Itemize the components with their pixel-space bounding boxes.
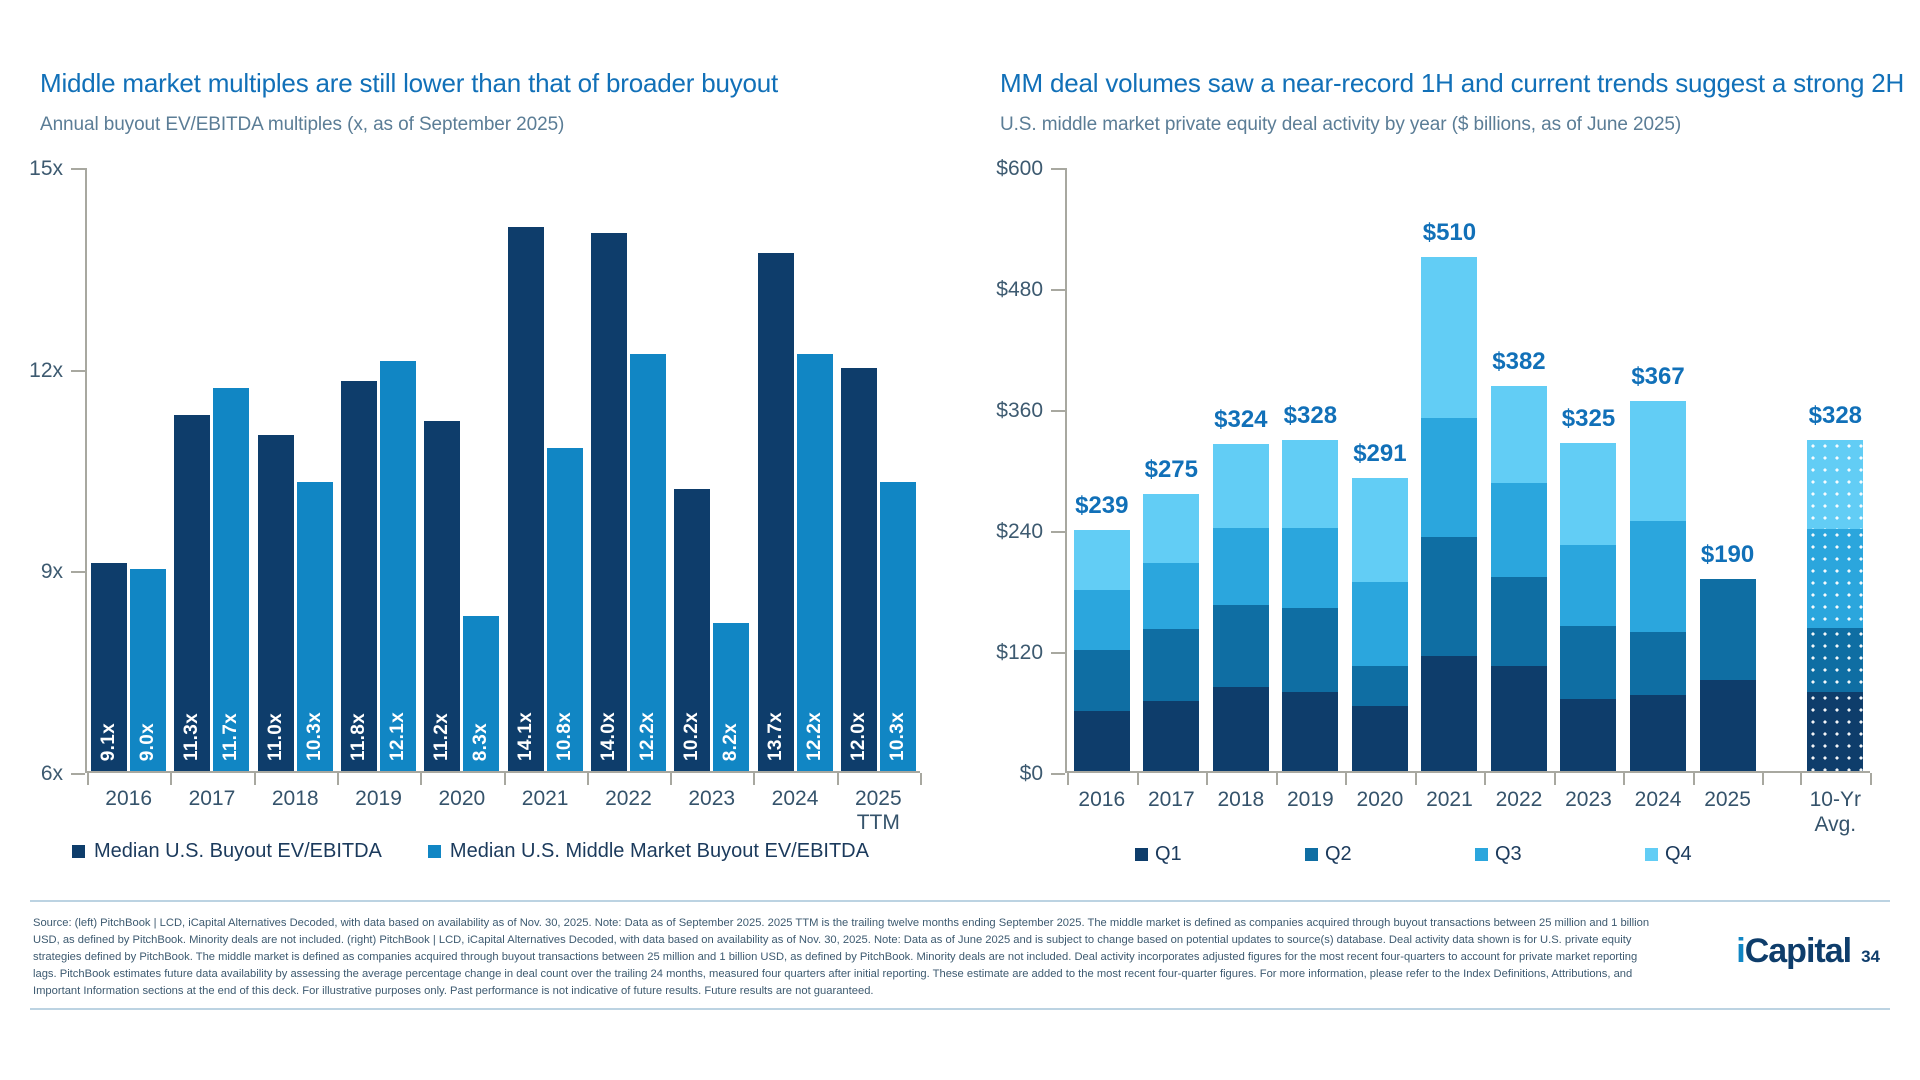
y-tick-mark: $240 bbox=[1051, 531, 1065, 533]
bar-value-label: 8.2x bbox=[720, 723, 742, 761]
bar-group[interactable]: 10.2x8.2x bbox=[670, 168, 753, 771]
x-tick-mark bbox=[587, 773, 589, 785]
right-chart-title: MM deal volumes saw a near-record 1H and… bbox=[1000, 68, 1904, 99]
bar-segment[interactable] bbox=[1491, 386, 1547, 483]
stacked-bar[interactable]: $328 bbox=[1282, 440, 1338, 771]
x-tick-mark bbox=[337, 773, 339, 785]
x-tick-label: 2024 bbox=[753, 775, 836, 835]
footer-divider-bottom bbox=[30, 1008, 1890, 1010]
x-tick-mark bbox=[1345, 773, 1347, 785]
bar-group[interactable]: $239 bbox=[1067, 168, 1137, 771]
right-title-block: MM deal volumes saw a near-record 1H and… bbox=[1000, 68, 1904, 136]
bar-segment[interactable] bbox=[1213, 605, 1269, 688]
bar-segment[interactable] bbox=[1074, 590, 1130, 651]
legend-item[interactable]: Q1 bbox=[1135, 843, 1305, 866]
bar-segment[interactable] bbox=[1213, 528, 1269, 605]
x-tick-label: 2016 bbox=[87, 775, 170, 835]
bar-group[interactable]: 12.0x10.3x bbox=[837, 168, 920, 771]
x-tick-mark bbox=[1067, 773, 1069, 785]
brand-block: iCapital 34 bbox=[1736, 932, 1880, 971]
bar-group[interactable]: $291 bbox=[1345, 168, 1415, 771]
bar-group[interactable]: 14.0x12.2x bbox=[587, 168, 670, 771]
bar-total-label: $325 bbox=[1562, 405, 1615, 433]
bar-value-label: 9.0x bbox=[137, 723, 159, 761]
bar[interactable]: 14.1x bbox=[508, 227, 544, 772]
bar-segment[interactable] bbox=[1630, 521, 1686, 632]
y-tick-label: $120 bbox=[996, 641, 1043, 665]
bar[interactable]: 13.7x bbox=[758, 253, 794, 771]
x-tick-label: 2023 bbox=[1554, 775, 1624, 837]
bar[interactable]: 12.0x bbox=[841, 368, 877, 771]
legend-label: Q2 bbox=[1325, 843, 1352, 866]
y-tick-mark: $120 bbox=[1051, 652, 1065, 654]
bar[interactable]: 11.8x bbox=[341, 381, 377, 771]
bar-segment[interactable] bbox=[1143, 629, 1199, 702]
bar-segment[interactable] bbox=[1074, 650, 1130, 711]
x-tick-mark bbox=[837, 773, 839, 785]
x-tick-label: 2021 bbox=[503, 775, 586, 835]
y-tick-mark: 6x bbox=[71, 773, 85, 775]
bar-value-label: 11.2x bbox=[431, 713, 453, 761]
x-tick-mark bbox=[1206, 773, 1208, 785]
legend-item[interactable]: Q3 bbox=[1475, 843, 1645, 866]
left-chart-legend: Median U.S. Buyout EV/EBITDAMedian U.S. … bbox=[72, 840, 869, 863]
bar-segment[interactable] bbox=[1352, 706, 1408, 771]
legend-swatch-icon bbox=[428, 845, 441, 858]
bar-value-label: 12.1x bbox=[387, 712, 409, 761]
y-tick-label: $360 bbox=[996, 399, 1043, 423]
bar-value-label: 10.3x bbox=[304, 712, 326, 761]
x-tick-mark bbox=[670, 773, 672, 785]
y-tick-label: $0 bbox=[1020, 762, 1043, 786]
left-chart-title: Middle market multiples are still lower … bbox=[40, 68, 778, 99]
bar-segment[interactable] bbox=[1282, 440, 1338, 528]
x-tick-label: 2017 bbox=[170, 775, 253, 835]
legend-swatch-icon bbox=[72, 845, 85, 858]
y-tick-label: 9x bbox=[41, 560, 63, 584]
x-tick-label: 2019 bbox=[1276, 775, 1346, 837]
legend-swatch-icon bbox=[1135, 848, 1148, 861]
bar-segment[interactable] bbox=[1282, 608, 1338, 693]
x-tick-label: 2018 bbox=[1206, 775, 1276, 837]
bar-group-spacer bbox=[1762, 168, 1800, 771]
bar-value-label: 9.1x bbox=[98, 723, 120, 761]
bar-group[interactable]: $382 bbox=[1484, 168, 1554, 771]
legend-swatch-icon bbox=[1475, 848, 1488, 861]
x-tick-label: 2025 bbox=[1693, 775, 1763, 837]
bar-group[interactable]: 14.1x10.8x bbox=[503, 168, 586, 771]
y-tick-mark: 9x bbox=[71, 571, 85, 573]
bar-value-label: 12.0x bbox=[848, 712, 870, 761]
bar-segment[interactable] bbox=[1807, 440, 1863, 529]
footer-divider-top bbox=[30, 900, 1890, 902]
left-bar-group: 9.1x9.0x11.3x11.7x11.0x10.3x11.8x12.1x11… bbox=[87, 168, 920, 771]
bar-group[interactable]: $325 bbox=[1554, 168, 1624, 771]
y-tick-label: $480 bbox=[996, 278, 1043, 302]
x-tick-label: 2024 bbox=[1623, 775, 1693, 837]
bar-segment[interactable] bbox=[1491, 483, 1547, 578]
y-tick-label: $600 bbox=[996, 157, 1043, 181]
x-tick-label: 2023 bbox=[670, 775, 753, 835]
bar[interactable]: 11.3x bbox=[174, 415, 210, 771]
bar-group[interactable]: $328 bbox=[1276, 168, 1346, 771]
bar-value-label: 11.8x bbox=[348, 713, 370, 761]
footnote-text: Source: (left) PitchBook | LCD, iCapital… bbox=[33, 915, 1663, 1000]
bar-value-label: 11.7x bbox=[220, 713, 242, 761]
x-tick-label: 2022 bbox=[1484, 775, 1554, 837]
bar-group[interactable]: $275 bbox=[1137, 168, 1207, 771]
x-tick-mark bbox=[1762, 773, 1764, 785]
bar-segment[interactable] bbox=[1491, 577, 1547, 666]
legend-item[interactable]: Q2 bbox=[1305, 843, 1475, 866]
x-tick-label: 2022 bbox=[587, 775, 670, 835]
bar-group[interactable]: 13.7x12.2x bbox=[753, 168, 836, 771]
bar-segment[interactable] bbox=[1807, 529, 1863, 628]
y-tick-label: 12x bbox=[29, 359, 63, 383]
stacked-bar[interactable]: $367 bbox=[1630, 401, 1686, 771]
x-tick-label: 2016 bbox=[1067, 775, 1137, 837]
bar[interactable]: 12.1x bbox=[380, 361, 416, 771]
bar-total-label: $324 bbox=[1214, 406, 1267, 434]
right-bar-group: $239$275$324$328$291$510$382$325$367$190… bbox=[1067, 168, 1870, 771]
y-tick-label: 6x bbox=[41, 762, 63, 786]
bar-segment[interactable] bbox=[1807, 628, 1863, 693]
bar-value-label: 11.3x bbox=[181, 713, 203, 761]
legend-item[interactable]: Median U.S. Buyout EV/EBITDA bbox=[72, 840, 382, 863]
stacked-bar[interactable]: $325 bbox=[1560, 443, 1616, 771]
bar[interactable]: 12.2x bbox=[630, 354, 666, 771]
bar-segment[interactable] bbox=[1352, 478, 1408, 583]
x-tick-mark bbox=[420, 773, 422, 785]
bar-total-label: $275 bbox=[1145, 456, 1198, 484]
bar-segment[interactable] bbox=[1074, 530, 1130, 589]
x-tick-label: 10-YrAvg. bbox=[1801, 775, 1871, 837]
bar[interactable]: 9.0x bbox=[130, 569, 166, 771]
legend-label: Q4 bbox=[1665, 843, 1692, 866]
bar[interactable]: 11.2x bbox=[424, 421, 460, 771]
bar-segment[interactable] bbox=[1143, 563, 1199, 629]
bar-segment[interactable] bbox=[1630, 695, 1686, 771]
x-tick-mark bbox=[1623, 773, 1625, 785]
icapital-logo: iCapital bbox=[1736, 932, 1851, 971]
logo-i: i bbox=[1736, 932, 1744, 970]
bar-total-label: $367 bbox=[1631, 363, 1684, 391]
x-tick-label: 2018 bbox=[254, 775, 337, 835]
bar-segment[interactable] bbox=[1282, 692, 1338, 771]
y-tick-mark: $600 bbox=[1051, 168, 1065, 170]
bar-value-label: 11.0x bbox=[265, 713, 287, 761]
left-x-axis-line bbox=[85, 771, 920, 773]
x-tick-mark bbox=[87, 773, 89, 785]
bar-group[interactable]: 11.3x11.7x bbox=[170, 168, 253, 771]
x-tick-mark bbox=[1693, 773, 1695, 785]
x-tick-spacer bbox=[1762, 775, 1800, 837]
x-tick-mark bbox=[920, 773, 922, 785]
bar-value-label: 13.7x bbox=[765, 712, 787, 761]
bar-segment[interactable] bbox=[1491, 666, 1547, 771]
bar[interactable]: 14.0x bbox=[591, 233, 627, 771]
x-tick-mark bbox=[1276, 773, 1278, 785]
stacked-bar[interactable]: $324 bbox=[1213, 444, 1269, 771]
x-tick-mark bbox=[504, 773, 506, 785]
bar-segment[interactable] bbox=[1807, 692, 1863, 771]
stacked-bar[interactable]: $382 bbox=[1491, 386, 1547, 771]
left-chart-subtitle: Annual buyout EV/EBITDA multiples (x, as… bbox=[40, 114, 778, 136]
stacked-bar[interactable]: $275 bbox=[1143, 494, 1199, 771]
left-chart-plot-area: 6x9x12x15x 9.1x9.0x11.3x11.7x11.0x10.3x1… bbox=[85, 168, 920, 773]
bar-segment[interactable] bbox=[1352, 666, 1408, 706]
bar[interactable]: 12.2x bbox=[797, 354, 833, 771]
bar[interactable]: 9.1x bbox=[91, 563, 127, 771]
legend-item[interactable]: Q4 bbox=[1645, 843, 1815, 866]
bar-total-label: $239 bbox=[1075, 492, 1128, 520]
right-x-tick-labels: 2016201720182019202020212022202320242025… bbox=[1067, 775, 1870, 837]
bar-group[interactable]: 11.8x12.1x bbox=[337, 168, 420, 771]
bar-segment[interactable] bbox=[1630, 401, 1686, 521]
y-tick-mark: 15x bbox=[71, 168, 85, 170]
bar-group[interactable]: 11.2x8.3x bbox=[420, 168, 503, 771]
bar-total-label: $291 bbox=[1353, 440, 1406, 468]
bar-segment[interactable] bbox=[1352, 582, 1408, 666]
legend-swatch-icon bbox=[1645, 848, 1658, 861]
bar[interactable]: 11.0x bbox=[258, 435, 294, 771]
bar-segment[interactable] bbox=[1213, 444, 1269, 528]
stacked-bar[interactable]: $190 bbox=[1700, 579, 1756, 771]
bar-total-label: $510 bbox=[1423, 219, 1476, 247]
bar-segment[interactable] bbox=[1630, 632, 1686, 696]
left-title-block: Middle market multiples are still lower … bbox=[40, 68, 778, 136]
bar-segment[interactable] bbox=[1421, 656, 1477, 771]
bar-segment[interactable] bbox=[1421, 418, 1477, 537]
y-tick-label: $240 bbox=[996, 520, 1043, 544]
bar-segment[interactable] bbox=[1074, 711, 1130, 772]
bar-segment[interactable] bbox=[1560, 443, 1616, 545]
legend-label: Q3 bbox=[1495, 843, 1522, 866]
bar-value-label: 14.0x bbox=[598, 712, 620, 761]
x-tick-mark bbox=[1415, 773, 1417, 785]
y-tick-mark: $480 bbox=[1051, 289, 1065, 291]
x-tick-mark bbox=[170, 773, 172, 785]
legend-label: Median U.S. Middle Market Buyout EV/EBIT… bbox=[450, 840, 869, 863]
stacked-bar[interactable]: $328 bbox=[1807, 440, 1863, 771]
bar-total-label: $190 bbox=[1701, 541, 1754, 569]
bar[interactable]: 10.3x bbox=[297, 482, 333, 771]
bar-segment[interactable] bbox=[1282, 528, 1338, 608]
right-x-axis-line bbox=[1065, 771, 1870, 773]
x-tick-mark bbox=[753, 773, 755, 785]
bar-segment[interactable] bbox=[1143, 494, 1199, 564]
bar-total-label: $382 bbox=[1492, 348, 1545, 376]
bar-value-label: 8.3x bbox=[470, 723, 492, 761]
y-tick-mark: 12x bbox=[71, 370, 85, 372]
legend-label: Q1 bbox=[1155, 843, 1182, 866]
x-tick-label: 2025TTM bbox=[837, 775, 920, 835]
bar-segment[interactable] bbox=[1700, 680, 1756, 771]
x-tick-mark bbox=[1554, 773, 1556, 785]
bar-value-label: 10.3x bbox=[887, 712, 909, 761]
legend-swatch-icon bbox=[1305, 848, 1318, 861]
bar-group[interactable]: $328 bbox=[1801, 168, 1871, 771]
bar-segment[interactable] bbox=[1421, 257, 1477, 418]
x-tick-label: 2020 bbox=[420, 775, 503, 835]
bar-segment[interactable] bbox=[1213, 687, 1269, 771]
bar-group[interactable]: 11.0x10.3x bbox=[254, 168, 337, 771]
y-tick-mark: $0 bbox=[1051, 773, 1065, 775]
bar-group[interactable]: 9.1x9.0x bbox=[87, 168, 170, 771]
right-chart-legend: Q1Q2Q3Q4 bbox=[1135, 843, 1815, 866]
bar[interactable]: 8.2x bbox=[713, 623, 749, 771]
bar[interactable]: 10.8x bbox=[547, 448, 583, 771]
bar-total-label: $328 bbox=[1284, 402, 1337, 430]
x-tick-mark bbox=[1800, 773, 1802, 785]
bar-value-label: 12.2x bbox=[804, 712, 826, 761]
bar-value-label: 12.2x bbox=[637, 712, 659, 761]
bar-segment[interactable] bbox=[1560, 626, 1616, 700]
stacked-bar[interactable]: $291 bbox=[1352, 478, 1408, 771]
stacked-bar[interactable]: $239 bbox=[1074, 530, 1130, 771]
x-tick-label: 2017 bbox=[1137, 775, 1207, 837]
bar[interactable]: 11.7x bbox=[213, 388, 249, 771]
y-tick-mark: $360 bbox=[1051, 410, 1065, 412]
bar-segment[interactable] bbox=[1143, 701, 1199, 771]
x-tick-mark bbox=[1870, 773, 1872, 785]
x-tick-mark bbox=[1484, 773, 1486, 785]
bar-segment[interactable] bbox=[1560, 699, 1616, 771]
bar-value-label: 14.1x bbox=[515, 712, 537, 761]
x-tick-label: 2019 bbox=[337, 775, 420, 835]
bar-segment[interactable] bbox=[1560, 545, 1616, 626]
bar-group[interactable]: $367 bbox=[1623, 168, 1693, 771]
bar[interactable]: 10.2x bbox=[674, 489, 710, 771]
x-tick-mark bbox=[254, 773, 256, 785]
right-chart-subtitle: U.S. middle market private equity deal a… bbox=[1000, 114, 1904, 136]
bar-segment[interactable] bbox=[1421, 537, 1477, 656]
right-chart-plot-area: $0$120$240$360$480$600 $239$275$324$328$… bbox=[1065, 168, 1870, 773]
x-tick-mark bbox=[1137, 773, 1139, 785]
bar-group[interactable]: $510 bbox=[1415, 168, 1485, 771]
bar-group[interactable]: $324 bbox=[1206, 168, 1276, 771]
x-tick-label: 2020 bbox=[1345, 775, 1415, 837]
bar-group[interactable]: $190 bbox=[1693, 168, 1763, 771]
page-number: 34 bbox=[1861, 947, 1880, 967]
bar[interactable]: 8.3x bbox=[463, 616, 499, 771]
bar-value-label: 10.8x bbox=[554, 712, 576, 761]
bar-segment[interactable] bbox=[1700, 579, 1756, 680]
y-tick-label: 15x bbox=[29, 157, 63, 181]
stacked-bar[interactable]: $510 bbox=[1421, 257, 1477, 771]
bar-value-label: 10.2x bbox=[681, 712, 703, 761]
legend-label: Median U.S. Buyout EV/EBITDA bbox=[94, 840, 382, 863]
logo-capital: Capital bbox=[1745, 932, 1851, 970]
legend-item[interactable]: Median U.S. Middle Market Buyout EV/EBIT… bbox=[428, 840, 869, 863]
bar[interactable]: 10.3x bbox=[880, 482, 916, 771]
x-tick-label: 2021 bbox=[1415, 775, 1485, 837]
bar-total-label: $328 bbox=[1809, 402, 1862, 430]
